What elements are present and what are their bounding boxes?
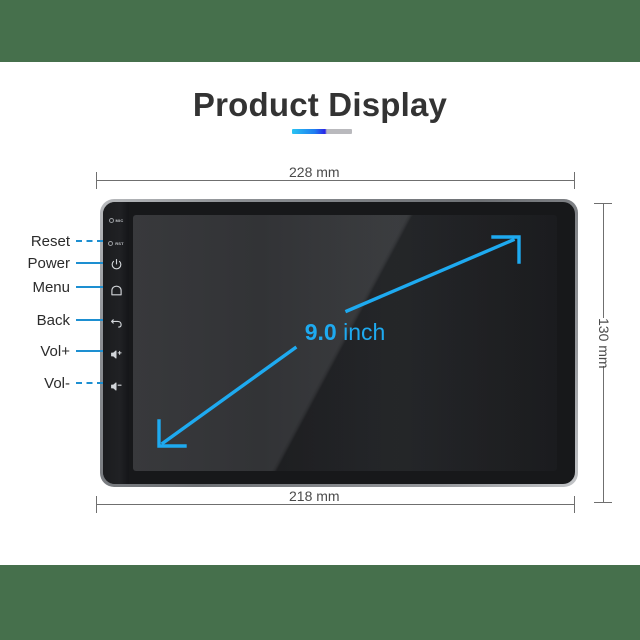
callout-reset: Reset	[18, 232, 103, 250]
callout-leader-menu	[76, 286, 103, 288]
callout-leader-back	[76, 319, 103, 321]
side-button-rail: MIC RST	[103, 202, 129, 484]
callout-back: Back	[18, 311, 103, 329]
screen-size-unit: inch	[337, 319, 386, 345]
callout-label-reset: Reset	[18, 233, 70, 250]
callout-leader-volume-down	[76, 382, 103, 384]
dimension-label-width-screen: 218 mm	[284, 488, 345, 504]
dimension-label-width-outer: 228 mm	[284, 164, 345, 180]
device-screen[interactable]: 9.0 inch	[133, 215, 557, 471]
title-underline-divider	[292, 129, 352, 134]
microphone-port-icon: MIC	[103, 212, 129, 228]
callout-power: Power	[18, 254, 103, 272]
power-icon[interactable]	[103, 256, 129, 272]
mic-pinhole-dot	[109, 218, 114, 223]
reset-pinhole-icon[interactable]: RST	[103, 235, 129, 251]
reset-pinhole-dot[interactable]	[108, 241, 113, 246]
callout-leader-volume-up	[76, 350, 103, 352]
dimension-cap-bottom-right	[574, 496, 575, 513]
screen-size-value: 9.0	[305, 319, 337, 345]
letterbox-band-top	[0, 0, 640, 62]
dimension-cap-top-right	[574, 172, 575, 189]
dimension-label-height-outer: 130 mm	[592, 318, 616, 366]
callout-label-power: Power	[18, 255, 70, 272]
callout-label-menu: Menu	[18, 279, 70, 296]
callout-label-volume-up: Vol+	[18, 343, 70, 360]
reset-label: RST	[115, 241, 124, 246]
page-title: Product Display	[0, 86, 640, 124]
dimension-line-bottom	[96, 504, 574, 505]
device-body: MIC RST	[103, 202, 575, 484]
letterbox-band-bottom	[0, 565, 640, 640]
dimension-cap-right-bottom	[594, 502, 612, 503]
callout-leader-reset	[76, 240, 103, 242]
screen-size-label: 9.0 inch	[133, 319, 557, 346]
callout-label-volume-down: Vol-	[18, 375, 70, 392]
dimension-cap-bottom-left	[96, 496, 97, 513]
callout-label-back: Back	[18, 312, 70, 329]
volume-up-icon[interactable]	[103, 346, 129, 362]
mic-label: MIC	[116, 218, 124, 223]
callout-volume-down: Vol-	[18, 374, 103, 392]
callout-volume-up: Vol+	[18, 342, 103, 360]
callout-menu: Menu	[18, 278, 103, 296]
dimension-line-top	[96, 180, 574, 181]
product-display-page: Product Display 228 mm 218 mm 130 mm MIC	[0, 0, 640, 640]
dimension-cap-top-left	[96, 172, 97, 189]
car-head-unit-device: MIC RST	[100, 199, 578, 487]
dimension-cap-right-top	[594, 203, 612, 204]
volume-down-icon[interactable]	[103, 378, 129, 394]
home-icon[interactable]	[103, 282, 129, 298]
back-arrow-icon[interactable]	[103, 314, 129, 330]
callout-leader-power	[76, 262, 103, 264]
